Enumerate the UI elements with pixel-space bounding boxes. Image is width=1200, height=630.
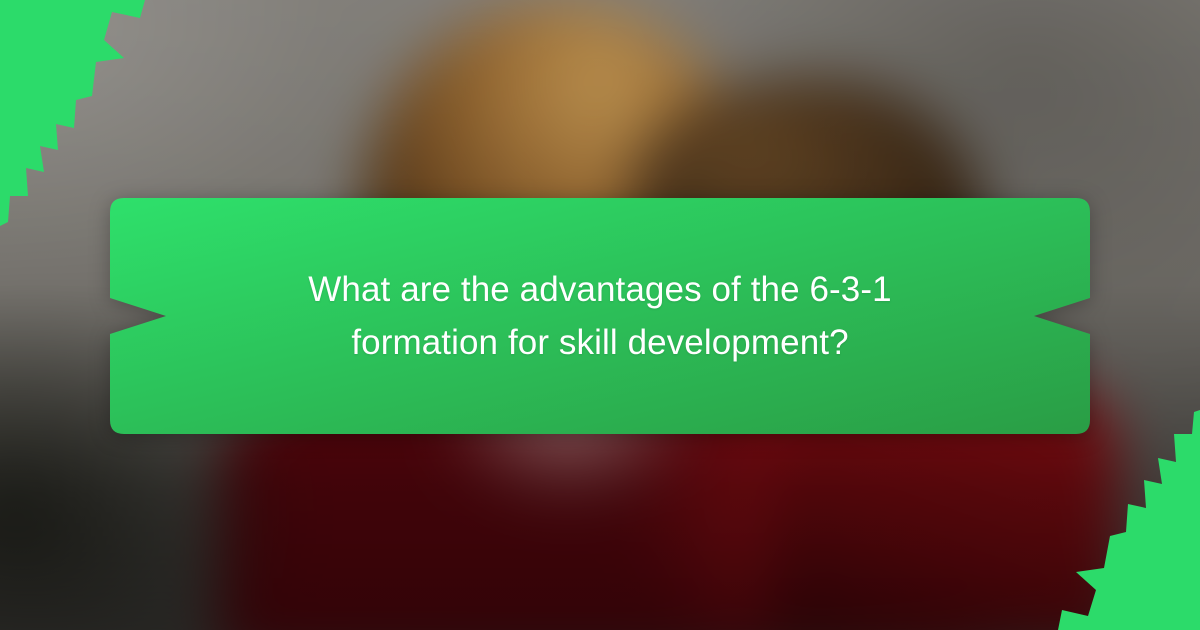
torn-edge-icon — [0, 0, 145, 226]
torn-edge-icon — [1058, 410, 1200, 630]
banner-title-line-1: What are the advantages of the 6-3-1 — [308, 263, 891, 316]
banner-title-line-2: formation for skill development? — [351, 316, 848, 369]
ribbon-banner: What are the advantages of the 6-3-1 for… — [110, 198, 1090, 434]
top-left-accent-shape — [0, 0, 170, 230]
banner-title: What are the advantages of the 6-3-1 for… — [110, 198, 1090, 434]
social-card: What are the advantages of the 6-3-1 for… — [0, 0, 1200, 630]
bottom-right-accent-shape — [1030, 410, 1200, 630]
